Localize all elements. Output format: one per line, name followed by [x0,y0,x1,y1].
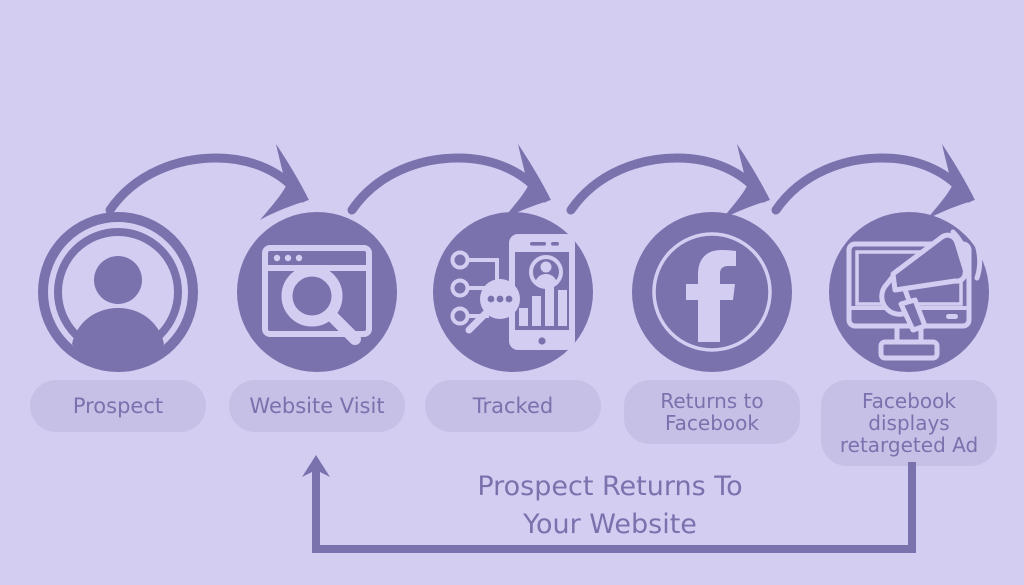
caption-line: Your Website [330,506,890,544]
caption-line: Prospect Returns To [330,468,890,506]
diagram-canvas: Prospect Website Visit [0,0,1024,585]
feedback-loop-caption: Prospect Returns To Your Website [330,468,890,544]
